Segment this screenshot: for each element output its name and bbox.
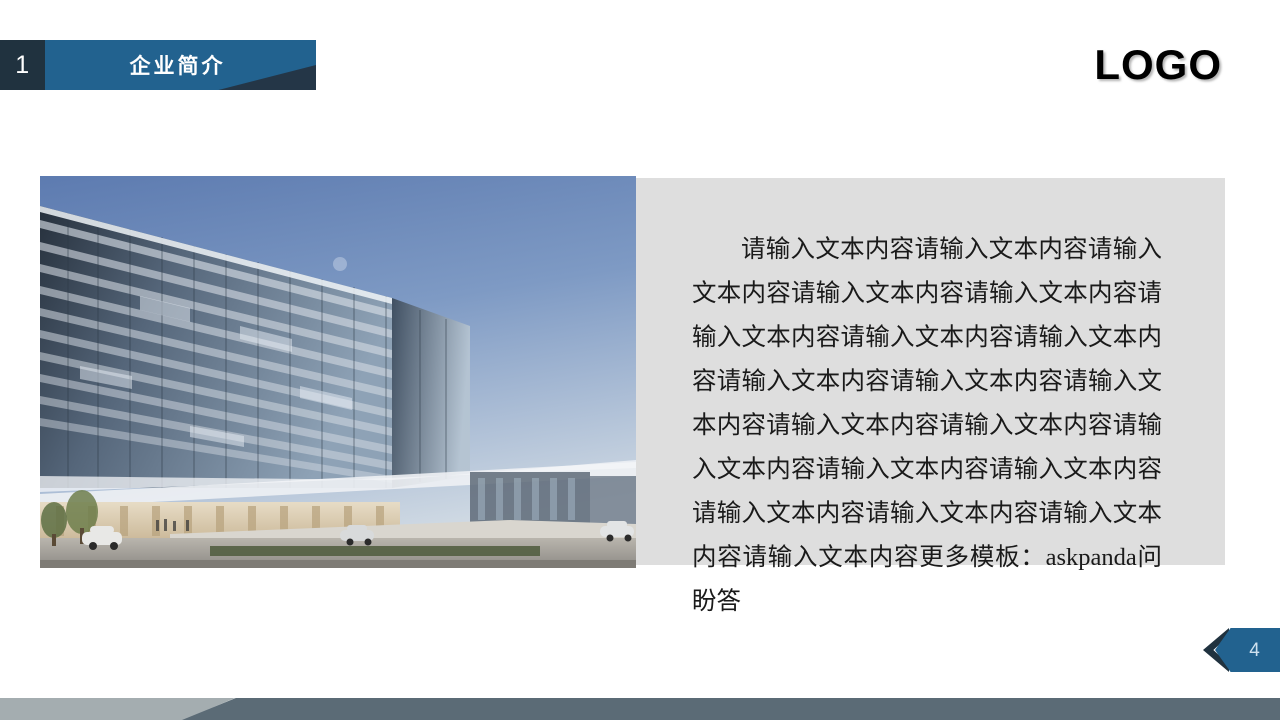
section-title-banner: 企业简介 bbox=[45, 40, 316, 90]
footer-decoration-bar bbox=[0, 698, 1280, 720]
page-number-label: 4 bbox=[1235, 641, 1260, 660]
building-photo bbox=[40, 176, 636, 568]
section-title-label: 企业简介 bbox=[130, 50, 226, 80]
footer-band-right bbox=[182, 698, 1280, 720]
logo: LOGO bbox=[1094, 44, 1222, 86]
slide-canvas: 1 企业简介 LOGO 请输入文本内容请输入文本内容请输入文本内容请输入文本内容… bbox=[0, 0, 1280, 720]
building-photo-illustration bbox=[40, 176, 636, 568]
section-number-label: 1 bbox=[15, 53, 29, 78]
section-number-box: 1 bbox=[0, 40, 45, 90]
page-number-badge: 4 bbox=[1203, 628, 1280, 672]
body-paragraph: 请输入文本内容请输入文本内容请输入文本内容请输入文本内容请输入文本内容请输入文本… bbox=[692, 228, 1162, 624]
section-header: 1 企业简介 bbox=[0, 40, 316, 90]
